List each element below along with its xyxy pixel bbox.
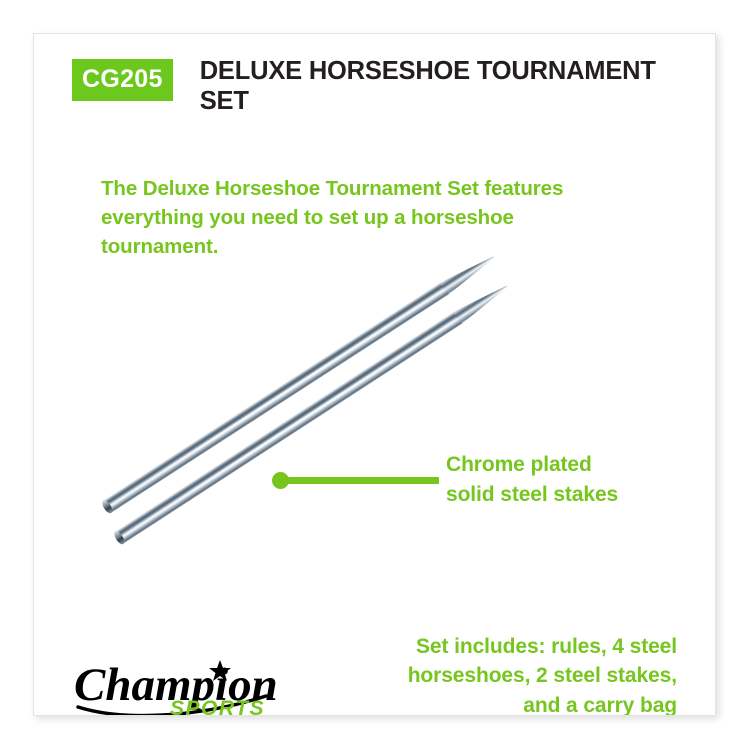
- stake-end-cap: [112, 529, 126, 545]
- stake-highlight: [131, 321, 452, 530]
- set-includes-line-1: Set includes: rules, 4 steel: [347, 632, 677, 661]
- brand-subword: SPORTS: [170, 697, 265, 716]
- set-includes-line-2: horseshoes, 2 steel stakes,: [347, 661, 677, 690]
- product-image: [34, 34, 716, 716]
- set-includes-line-3: and a carry bag: [347, 691, 677, 716]
- set-includes-text: Set includes: rules, 4 steel horseshoes,…: [347, 632, 677, 716]
- product-info-card: CG205 DELUXE HORSESHOE TOURNAMENT SET Th…: [33, 33, 716, 716]
- brand-logo: Champion SPORTS: [70, 644, 290, 716]
- callout-label: Chrome plated solid steel stakes: [446, 450, 696, 510]
- stake-highlight: [119, 292, 439, 499]
- stake-end-cap: [100, 498, 114, 514]
- stake-point-tip: [453, 279, 511, 324]
- callout-label-line-1: Chrome plated: [446, 450, 696, 480]
- card-header: CG205 DELUXE HORSESHOE TOURNAMENT SET: [72, 57, 682, 116]
- product-description: The Deluxe Horseshoe Tournament Set feat…: [101, 174, 571, 261]
- stake-shaft: [114, 311, 463, 545]
- page-canvas: CG205 DELUXE HORSESHOE TOURNAMENT SET Th…: [0, 0, 750, 750]
- page-title: DELUXE HORSESHOE TOURNAMENT SET: [200, 57, 682, 116]
- callout-leader-line: [280, 477, 439, 484]
- sku-badge: CG205: [72, 59, 173, 101]
- callout-anchor-dot: [272, 472, 289, 489]
- steel-stake-lower: [114, 311, 463, 545]
- callout-label-line-2: solid steel stakes: [446, 480, 696, 510]
